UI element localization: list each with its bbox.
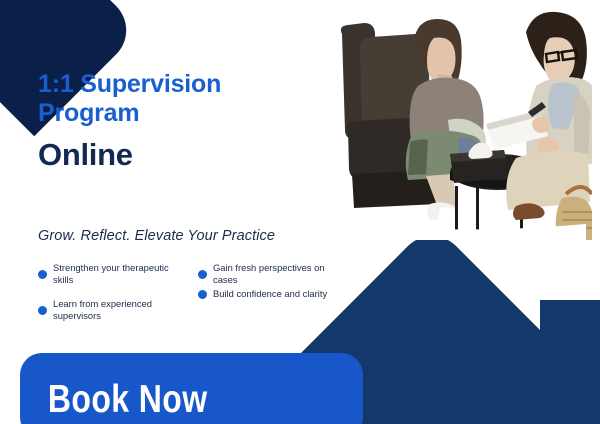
bullet-dot-icon xyxy=(38,306,47,315)
book-now-label: Book Now xyxy=(20,374,301,419)
list-item: Gain fresh perspectives on cases xyxy=(198,262,338,286)
list-item-label: Gain fresh perspectives on cases xyxy=(213,262,338,286)
list-item: Build confidence and clarity xyxy=(198,288,338,300)
bullet-dot-icon xyxy=(198,290,207,299)
tagline: Grow. Reflect. Elevate Your Practice xyxy=(38,228,275,244)
benefits-list: Strengthen your therapeutic skills Learn… xyxy=(38,262,338,334)
decorative-shape-bottom-right-fill xyxy=(540,300,600,424)
page-title: 1:1 Supervision Program xyxy=(38,70,323,127)
bullet-dot-icon xyxy=(38,270,47,279)
benefits-column-left: Strengthen your therapeutic skills Learn… xyxy=(38,262,178,334)
book-now-button[interactable]: Book Now xyxy=(20,353,363,424)
list-item: Strengthen your therapeutic skills xyxy=(38,262,178,286)
list-item-label: Learn from experienced supervisors xyxy=(53,298,178,322)
list-item: Learn from experienced supervisors xyxy=(38,298,178,322)
therapy-session-photo xyxy=(330,8,592,240)
list-item-label: Strengthen your therapeutic skills xyxy=(53,262,178,286)
benefits-column-right: Gain fresh perspectives on cases Build c… xyxy=(198,262,338,334)
list-item-label: Build confidence and clarity xyxy=(213,288,327,300)
promo-poster: 1:1 Supervision Program Online Grow. Ref… xyxy=(0,0,600,424)
bullet-dot-icon xyxy=(198,270,207,279)
subtitle-online: Online xyxy=(38,138,133,172)
